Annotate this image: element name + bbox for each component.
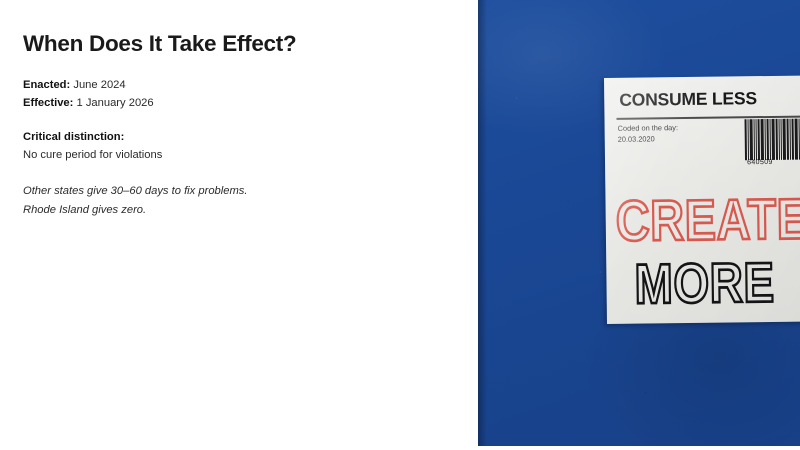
note-block: Other states give 30–60 days to fix prob… [23, 182, 454, 221]
distinction-body: No cure period for violations [23, 146, 454, 164]
note-line-2: Rhode Island gives zero. [23, 201, 454, 220]
note-line-1: Other states give 30–60 days to fix prob… [23, 182, 454, 201]
slide: When Does It Take Effect? Enacted: June … [0, 0, 800, 450]
poster-word-more: MORE [634, 254, 775, 312]
distinction-block: Critical distinction: No cure period for… [23, 128, 454, 164]
distinction-heading: Critical distinction: [23, 128, 454, 146]
poster-coded-label: Coded on the day: [618, 123, 679, 134]
wall-left-shadow [478, 0, 487, 446]
meta-label-enacted: Enacted: [23, 79, 70, 91]
page-title: When Does It Take Effect? [23, 30, 454, 57]
meta-block: Enacted: June 2024 Effective: 1 January … [23, 76, 454, 112]
barcode: 640509 [745, 118, 800, 167]
wall-bottom-strip [478, 446, 800, 450]
photo-panel: CONSUME LESS Coded on the day: 20.03.202… [478, 0, 800, 450]
text-panel: When Does It Take Effect? Enacted: June … [0, 0, 478, 450]
meta-row-enacted: Enacted: June 2024 [23, 76, 454, 94]
barcode-digits: 640509 [747, 159, 773, 166]
poster: CONSUME LESS Coded on the day: 20.03.202… [604, 75, 800, 324]
meta-label-effective: Effective: [23, 97, 73, 109]
poster-word-create: CREATE [615, 190, 800, 250]
barcode-bars [745, 118, 800, 160]
meta-row-effective: Effective: 1 January 2026 [23, 94, 454, 112]
meta-value-effective: 1 January 2026 [76, 97, 153, 109]
poster-coded-date: 20.03.2020 [618, 134, 679, 145]
poster-headline: CONSUME LESS [619, 88, 757, 111]
meta-value-enacted: June 2024 [73, 79, 125, 91]
poster-coded-text: Coded on the day: 20.03.2020 [618, 123, 679, 145]
